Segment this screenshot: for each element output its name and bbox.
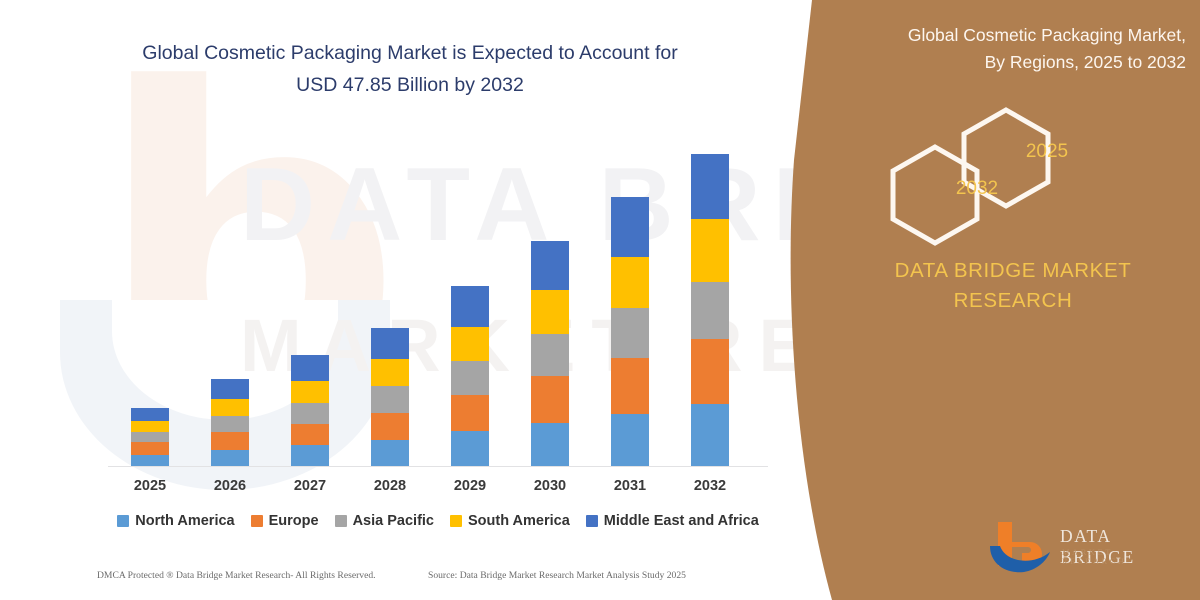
bar-segment-europe [131,442,169,455]
bar-2029[interactable] [451,286,489,466]
bar-2031[interactable] [611,197,649,466]
company-logo: DATA BRIDGE MARKET RESEARCH [988,520,1178,578]
bar-2030[interactable] [531,241,569,466]
bar-segment-south-america [531,290,569,333]
right-panel: Global Cosmetic Packaging Market, By Reg… [780,0,1200,600]
right-panel-title-line2: By Regions, 2025 to 2032 [814,49,1186,76]
bar-segment-asia-pacific [211,416,249,433]
bar-segment-middle-east-and-africa [451,286,489,326]
legend-label: Asia Pacific [353,513,434,529]
footer-dmca: DMCA Protected ® Data Bridge Market Rese… [97,570,376,581]
bar-segment-north-america [371,440,409,466]
legend-swatch-icon [335,515,347,527]
bar-segment-asia-pacific [531,334,569,376]
legend-item-north-america[interactable]: North America [117,513,234,529]
bar-segment-south-america [211,399,249,416]
legend-swatch-icon [117,515,129,527]
bar-segment-middle-east-and-africa [531,241,569,290]
bar-2026[interactable] [211,379,249,466]
bar-segment-europe [691,339,729,404]
chart-legend: North AmericaEuropeAsia PacificSouth Ame… [108,513,768,529]
legend-swatch-icon [251,515,263,527]
x-axis-tick-2029: 2029 [435,478,505,494]
x-axis-tick-2032: 2032 [675,478,745,494]
x-axis-tick-2027: 2027 [275,478,345,494]
x-axis-tick-2025: 2025 [115,478,185,494]
legend-label: South America [468,513,570,529]
legend-item-europe[interactable]: Europe [251,513,319,529]
right-panel-title-line1: Global Cosmetic Packaging Market, [908,25,1186,45]
bar-segment-north-america [611,414,649,466]
bar-segment-south-america [371,359,409,386]
right-panel-title: Global Cosmetic Packaging Market, By Reg… [814,22,1186,75]
bar-segment-europe [211,432,249,450]
bar-2028[interactable] [371,328,409,466]
x-axis-tick-2030: 2030 [515,478,585,494]
bar-segment-middle-east-and-africa [291,355,329,381]
legend-item-south-america[interactable]: South America [450,513,570,529]
brand-name: DATA BRIDGE MARKET RESEARCH [838,256,1188,315]
infographic-root: b DATA BRIDGE MARKET RESEARCH Global Cos… [0,0,1200,600]
brand-line1: DATA BRIDGE MARKET [895,259,1132,282]
bar-segment-north-america [691,404,729,466]
bar-segment-asia-pacific [291,403,329,424]
legend-label: North America [135,513,234,529]
legend-swatch-icon [586,515,598,527]
footer-source: Source: Data Bridge Market Research Mark… [428,570,686,581]
bar-segment-asia-pacific [451,361,489,395]
bar-segment-north-america [451,431,489,466]
legend-item-asia-pacific[interactable]: Asia Pacific [335,513,434,529]
legend-label: Europe [269,513,319,529]
logo-name-line2: MARKET RESEARCH [1062,548,1178,566]
bar-segment-middle-east-and-africa [691,154,729,219]
x-axis-line [108,466,768,467]
bar-segment-south-america [611,257,649,308]
bar-segment-middle-east-and-africa [371,328,409,360]
x-axis-tick-2026: 2026 [195,478,265,494]
bar-segment-europe [291,424,329,446]
bar-segment-middle-east-and-africa [131,408,169,421]
bar-segment-north-america [131,455,169,466]
bar-segment-south-america [691,219,729,282]
bar-segment-north-america [211,450,249,466]
legend-label: Middle East and Africa [604,513,759,529]
bar-segment-europe [371,413,409,441]
legend-item-middle-east-and-africa[interactable]: Middle East and Africa [586,513,759,529]
brand-line2: RESEARCH [838,286,1188,316]
bar-segment-middle-east-and-africa [611,197,649,256]
bar-segment-asia-pacific [691,282,729,338]
bar-segment-asia-pacific [131,432,169,442]
bar-segment-north-america [531,423,569,466]
legend-swatch-icon [450,515,462,527]
bar-2027[interactable] [291,355,329,466]
bar-segment-middle-east-and-africa [211,379,249,399]
bar-segment-europe [531,376,569,422]
x-axis-tick-2031: 2031 [595,478,665,494]
bar-segment-south-america [291,381,329,403]
bar-segment-europe [611,358,649,413]
bar-segment-europe [451,395,489,432]
bar-segment-south-america [451,327,489,362]
logo-mark-icon [988,520,1054,574]
bar-segment-north-america [291,445,329,466]
stacked-bar-chart: 20252026202720282029203020312032 North A… [0,0,800,600]
bar-segment-asia-pacific [371,386,409,413]
bar-2025[interactable] [131,408,169,466]
bar-2032[interactable] [691,154,729,466]
bar-segment-south-america [131,421,169,433]
x-axis-tick-2028: 2028 [355,478,425,494]
bar-segment-asia-pacific [611,308,649,358]
